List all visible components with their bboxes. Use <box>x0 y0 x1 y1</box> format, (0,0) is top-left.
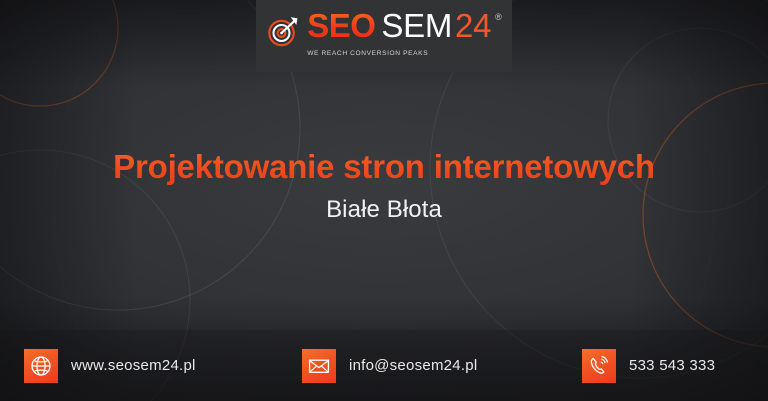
registered-mark-icon: ® <box>495 13 502 22</box>
phone-icon <box>582 349 616 383</box>
contact-email[interactable]: info@seosem24.pl <box>302 349 477 383</box>
envelope-icon <box>302 349 336 383</box>
email-label: info@seosem24.pl <box>349 357 477 374</box>
logo-plate: SEO SEM 24 ® WE REACH CONVERSION PEAKS <box>256 0 512 72</box>
page-subtitle: Białe Błota <box>0 196 768 224</box>
contact-website[interactable]: www.seosem24.pl <box>24 349 196 383</box>
contact-phone[interactable]: 533 543 333 <box>582 349 715 383</box>
hero-text-block: Projektowanie stron internetowych Białe … <box>0 148 768 224</box>
phone-label: 533 543 333 <box>629 357 715 374</box>
logo-word-sem: SEM <box>381 9 452 42</box>
page-title: Projektowanie stron internetowych <box>0 148 768 186</box>
seo-promo-slide: SEO SEM 24 ® WE REACH CONVERSION PEAKS P… <box>0 0 768 401</box>
logo-tagline: WE REACH CONVERSION PEAKS <box>307 50 430 57</box>
target-dart-icon <box>266 14 300 48</box>
globe-icon <box>24 349 58 383</box>
logo-word-seo: SEO <box>307 9 375 42</box>
logo[interactable]: SEO SEM 24 ® WE REACH CONVERSION PEAKS <box>266 9 502 60</box>
contact-bar: www.seosem24.pl info@seosem24.pl <box>0 330 768 401</box>
website-label: www.seosem24.pl <box>71 357 196 374</box>
logo-word-24: 24 <box>455 9 491 42</box>
